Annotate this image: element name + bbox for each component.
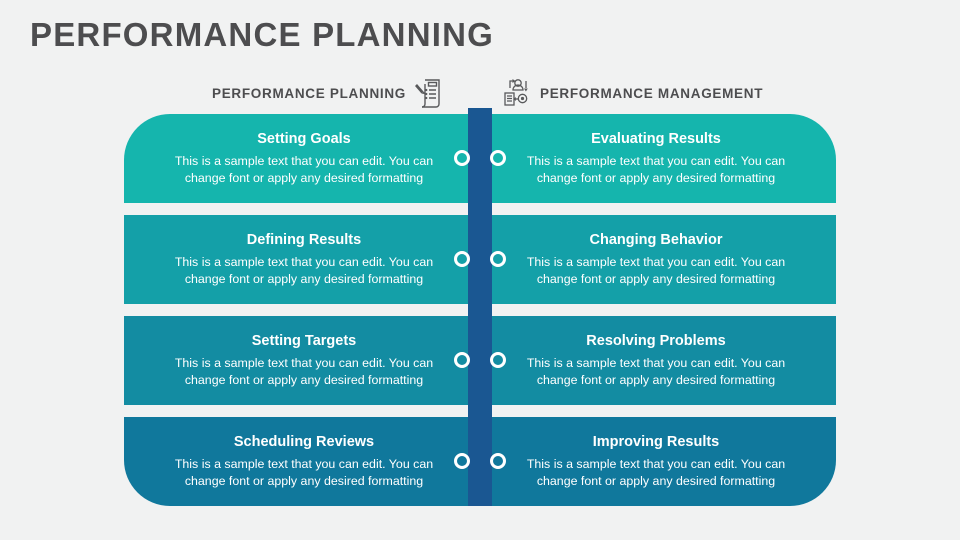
card-title: Changing Behavior xyxy=(590,232,723,248)
connector-ring-left xyxy=(454,453,470,469)
connector-ring-left xyxy=(454,150,470,166)
card-body: This is a sample text that you can edit.… xyxy=(154,456,454,489)
column-header-management-label: PERFORMANCE MANAGEMENT xyxy=(540,86,763,101)
card-body: This is a sample text that you can edit.… xyxy=(506,355,806,388)
card-body: This is a sample text that you can edit.… xyxy=(506,153,806,186)
card-title: Setting Targets xyxy=(252,333,356,349)
column-header-planning: PERFORMANCE PLANNING xyxy=(212,78,444,108)
card-body: This is a sample text that you can edit.… xyxy=(154,254,454,287)
card-body: This is a sample text that you can edit.… xyxy=(506,254,806,287)
card-title: Setting Goals xyxy=(257,131,350,147)
card-body: This is a sample text that you can edit.… xyxy=(506,456,806,489)
person-gear-cycle-icon xyxy=(502,76,532,110)
card-right-row3[interactable]: Resolving Problems This is a sample text… xyxy=(480,316,836,405)
column-header-management: PERFORMANCE MANAGEMENT xyxy=(502,78,763,108)
connector-ring-right xyxy=(490,150,506,166)
column-header-planning-label: PERFORMANCE PLANNING xyxy=(212,86,406,101)
card-body: This is a sample text that you can edit.… xyxy=(154,355,454,388)
connector-ring-right xyxy=(490,352,506,368)
slide-canvas: PERFORMANCE PLANNING PERFORMANCE PLANNIN… xyxy=(0,0,960,540)
card-title: Improving Results xyxy=(593,434,720,450)
card-title: Scheduling Reviews xyxy=(234,434,374,450)
card-title: Resolving Problems xyxy=(586,333,725,349)
column-headers: PERFORMANCE PLANNING xyxy=(0,78,960,108)
card-left-row2[interactable]: Defining Results This is a sample text t… xyxy=(124,215,480,304)
card-left-row1[interactable]: Setting Goals This is a sample text that… xyxy=(124,114,480,203)
card-title: Defining Results xyxy=(247,232,361,248)
two-column-diagram: Setting Goals This is a sample text that… xyxy=(124,114,836,506)
card-body: This is a sample text that you can edit.… xyxy=(154,153,454,186)
card-left-row3[interactable]: Setting Targets This is a sample text th… xyxy=(124,316,480,405)
connector-ring-right xyxy=(490,251,506,267)
card-right-row1[interactable]: Evaluating Results This is a sample text… xyxy=(480,114,836,203)
card-left-row4[interactable]: Scheduling Reviews This is a sample text… xyxy=(124,417,480,506)
clipboard-pen-icon xyxy=(414,76,444,110)
card-right-row2[interactable]: Changing Behavior This is a sample text … xyxy=(480,215,836,304)
connector-ring-left xyxy=(454,352,470,368)
card-title: Evaluating Results xyxy=(591,131,721,147)
connector-ring-right xyxy=(490,453,506,469)
center-spine xyxy=(468,114,492,506)
connector-ring-left xyxy=(454,251,470,267)
page-title: PERFORMANCE PLANNING xyxy=(30,16,494,54)
card-right-row4[interactable]: Improving Results This is a sample text … xyxy=(480,417,836,506)
